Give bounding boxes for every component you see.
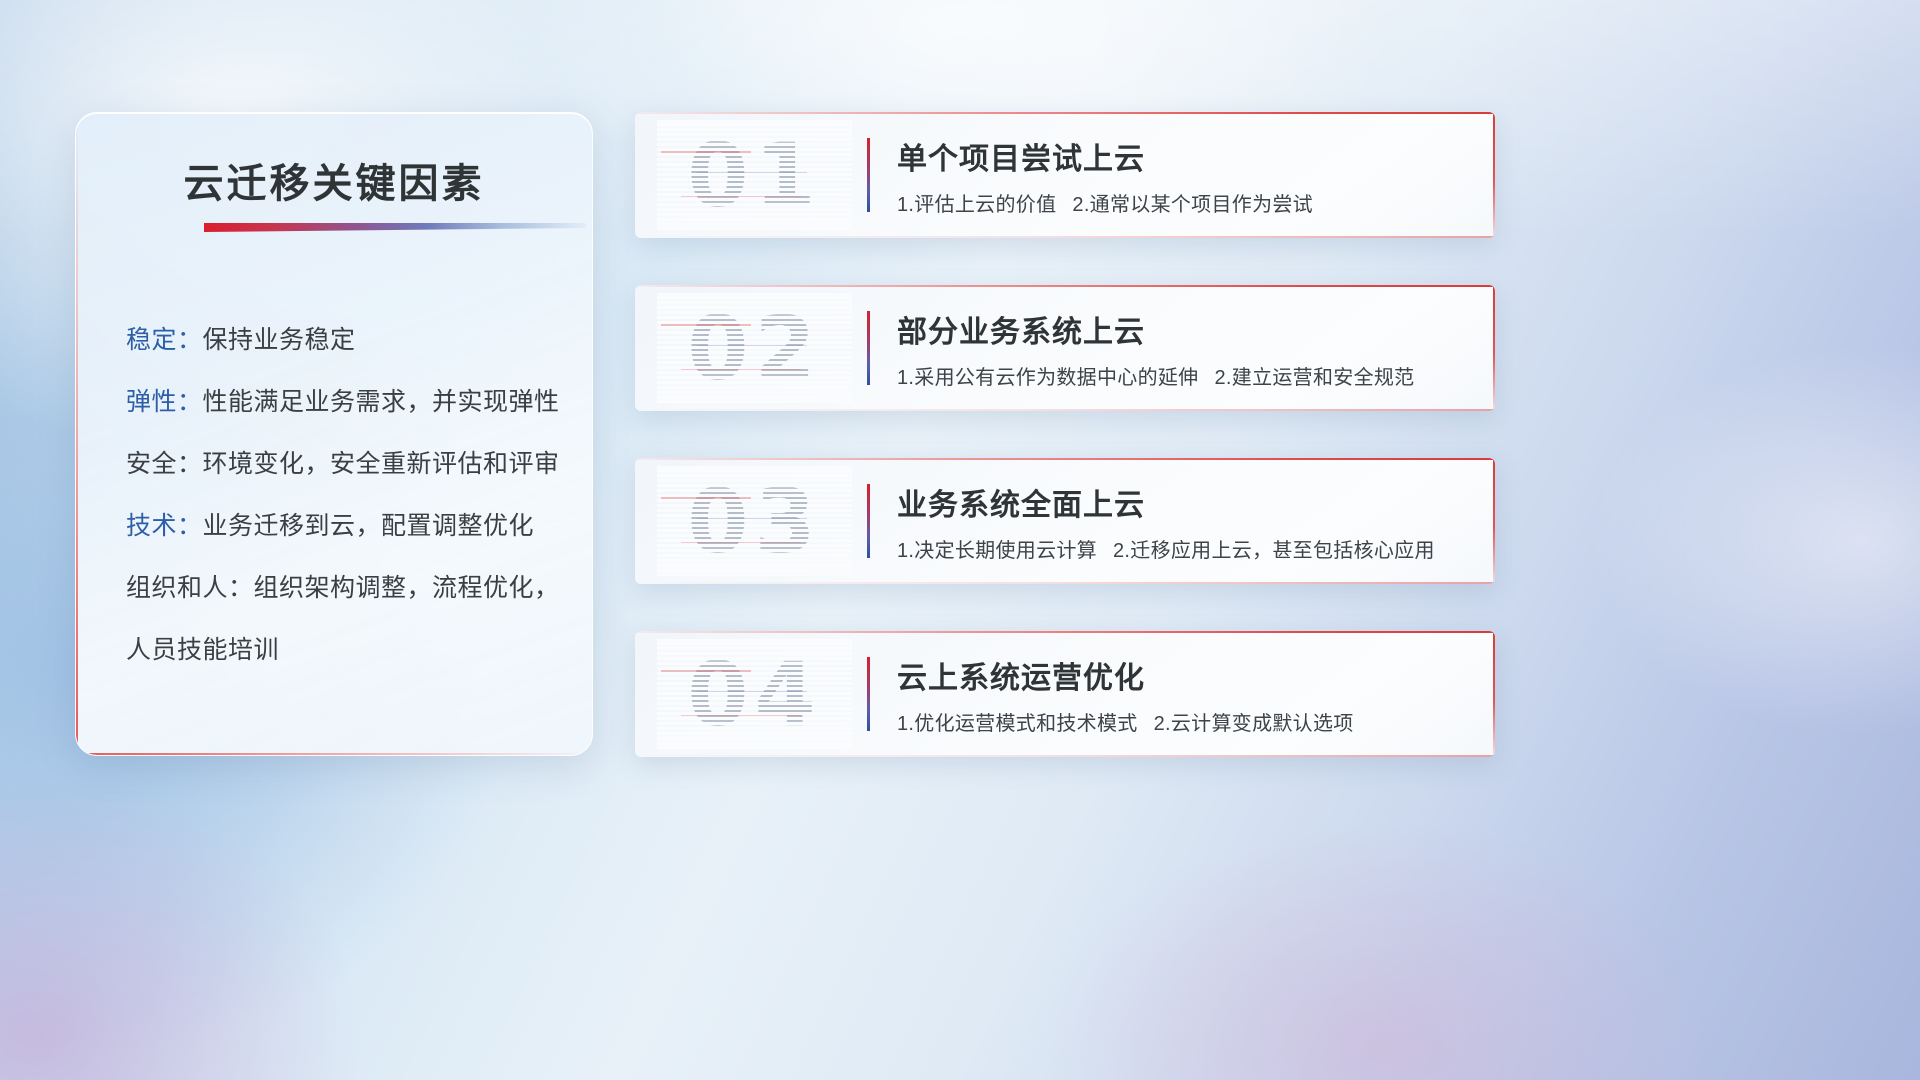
- card-top-accent: [635, 112, 1495, 114]
- step-card-01[interactable]: 01 单个项目尝试上云 1.评估上云的价值2.通常以某个项目作为尝试: [635, 112, 1495, 238]
- card-right-accent: [1493, 112, 1495, 238]
- step-title: 单个项目尝试上云: [897, 134, 1145, 178]
- card-top-accent: [635, 631, 1495, 633]
- factor-text: 环境变化，安全重新评估和评审: [203, 450, 560, 478]
- card-bottom-accent: [635, 236, 1495, 238]
- card-top-accent: [635, 458, 1495, 460]
- factor-list: 稳定：保持业务稳定 弹性：性能满足业务需求，并实现弹性 安全：环境变化，安全重新…: [126, 309, 568, 681]
- factor-row: 安全：环境变化，安全重新评估和评审: [126, 433, 568, 495]
- step-point-1: 1.采用公有云作为数据中心的延伸: [897, 367, 1198, 389]
- title-underline-accent: [204, 223, 586, 232]
- number-fade-overlay: [657, 466, 852, 576]
- factor-row: 技术：业务迁移到云，配置调整优化: [126, 495, 568, 557]
- step-point-1: 1.决定长期使用云计算: [897, 540, 1097, 562]
- step-divider-bar: [867, 484, 870, 558]
- factor-label: 弹性：: [126, 388, 203, 416]
- card-right-accent: [1493, 631, 1495, 757]
- card-bottom-accent: [635, 582, 1495, 584]
- card-right-accent: [1493, 285, 1495, 411]
- step-description: 1.采用公有云作为数据中心的延伸2.建立运营和安全规范: [897, 361, 1414, 390]
- step-description: 1.优化运营模式和技术模式2.云计算变成默认选项: [897, 707, 1354, 736]
- step-card-02[interactable]: 02 部分业务系统上云 1.采用公有云作为数据中心的延伸2.建立运营和安全规范: [635, 285, 1495, 411]
- step-divider-bar: [867, 311, 870, 385]
- step-title: 业务系统全面上云: [897, 480, 1145, 524]
- factor-label: 组织和人：: [126, 574, 254, 602]
- factor-label: 稳定：: [126, 326, 203, 354]
- card-bottom-accent: [635, 755, 1495, 757]
- factor-text: 保持业务稳定: [203, 326, 356, 354]
- factor-row: 稳定：保持业务稳定: [126, 309, 568, 371]
- step-point-2: 2.通常以某个项目作为尝试: [1072, 194, 1313, 216]
- step-divider-bar: [867, 657, 870, 731]
- step-point-1: 1.优化运营模式和技术模式: [897, 713, 1138, 735]
- step-card-04[interactable]: 04 云上系统运营优化 1.优化运营模式和技术模式2.云计算变成默认选项: [635, 631, 1495, 757]
- step-title: 云上系统运营优化: [897, 653, 1145, 697]
- card-right-accent: [1493, 458, 1495, 584]
- step-number-graphic: 02: [657, 293, 852, 403]
- number-fade-overlay: [657, 120, 852, 230]
- page-title: 云迁移关键因素: [76, 151, 592, 209]
- step-point-2: 2.云计算变成默认选项: [1154, 713, 1354, 735]
- key-factors-panel: 云迁移关键因素 稳定：保持业务稳定 弹性：性能满足业务需求，并实现弹性 安全：环…: [75, 112, 593, 756]
- step-card-03[interactable]: 03 业务系统全面上云 1.决定长期使用云计算2.迁移应用上云，甚至包括核心应用: [635, 458, 1495, 584]
- step-point-2: 2.迁移应用上云，甚至包括核心应用: [1113, 540, 1435, 562]
- factor-text: 性能满足业务需求，并实现弹性: [203, 388, 560, 416]
- step-point-1: 1.评估上云的价值: [897, 194, 1056, 216]
- factor-text: 业务迁移到云，配置调整优化: [203, 512, 535, 540]
- factor-label: 技术：: [126, 512, 203, 540]
- step-title: 部分业务系统上云: [897, 307, 1145, 351]
- step-number-graphic: 01: [657, 120, 852, 230]
- factor-continuation-text: 人员技能培训: [126, 619, 568, 681]
- step-description: 1.评估上云的价值2.通常以某个项目作为尝试: [897, 188, 1313, 217]
- factor-label: 安全：: [126, 450, 203, 478]
- step-divider-bar: [867, 138, 870, 212]
- factor-row: 组织和人：组织架构调整，流程优化，: [126, 557, 568, 619]
- step-description: 1.决定长期使用云计算2.迁移应用上云，甚至包括核心应用: [897, 534, 1435, 563]
- card-bottom-accent: [635, 409, 1495, 411]
- step-number-graphic: 03: [657, 466, 852, 576]
- factor-row: 弹性：性能满足业务需求，并实现弹性: [126, 371, 568, 433]
- number-fade-overlay: [657, 293, 852, 403]
- card-top-accent: [635, 285, 1495, 287]
- step-point-2: 2.建立运营和安全规范: [1214, 367, 1414, 389]
- step-number-graphic: 04: [657, 639, 852, 749]
- number-fade-overlay: [657, 639, 852, 749]
- factor-text: 组织架构调整，流程优化，: [254, 574, 560, 602]
